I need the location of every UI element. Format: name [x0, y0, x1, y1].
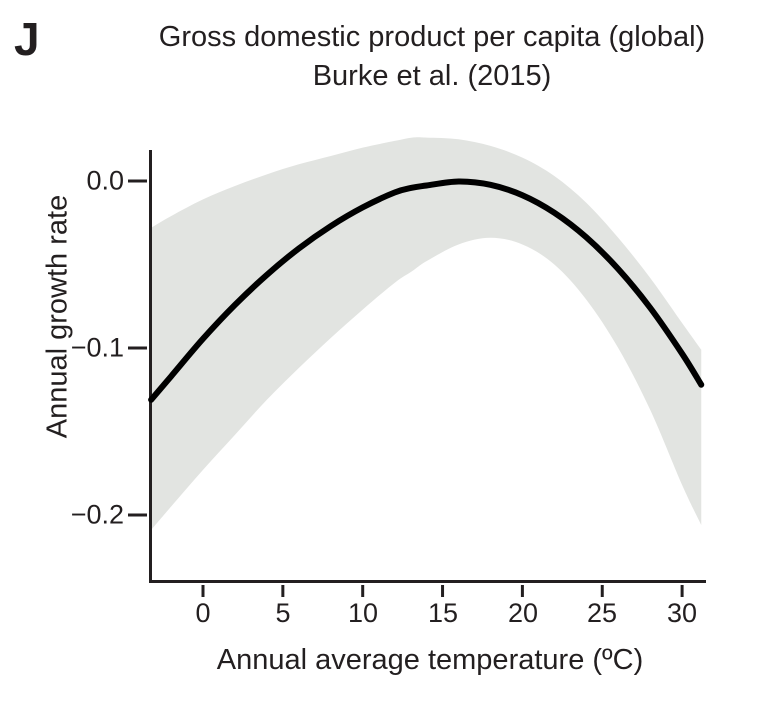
figure-panel-j: J Gross domestic product per capita (glo… — [0, 0, 778, 720]
x-tick-marks — [203, 585, 682, 597]
confidence-band — [151, 137, 701, 530]
y-tick-marks — [128, 181, 147, 515]
confidence-band-group — [151, 137, 701, 530]
plot-area — [0, 0, 778, 720]
